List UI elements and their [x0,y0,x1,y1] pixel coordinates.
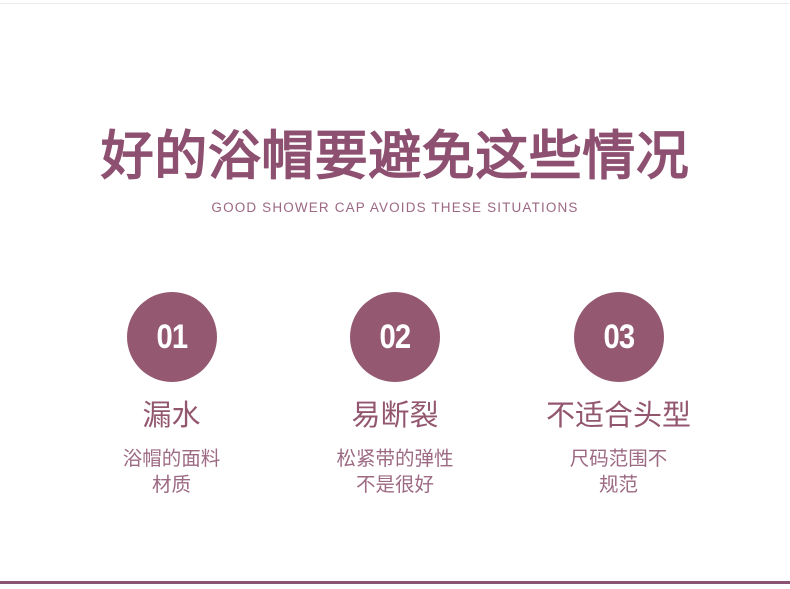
feature-description-02: 松紧带的弹性 不是很好 [336,435,453,498]
feature-description-line: 松紧带的弹性 [336,446,453,472]
feature-description-line: 材质 [123,472,221,498]
badge-number-label: 01 [156,320,187,354]
feature-description-03: 尺码范围不 规范 [570,435,668,498]
feature-columns: 01 漏水 浴帽的面料 材质 02 易断裂 松紧带的弹性 不是很好 03 不适合… [60,292,730,498]
promo-banner: 好的浴帽要避免这些情况 GOOD SHOWER CAP AVOIDS THESE… [0,0,790,589]
top-divider [0,3,790,4]
heading-block: 好的浴帽要避免这些情况 GOOD SHOWER CAP AVOIDS THESE… [0,126,790,217]
number-badge-01: 01 [127,292,217,382]
page-subtitle: GOOD SHOWER CAP AVOIDS THESE SITUATIONS [0,188,790,217]
badge-number-label: 03 [603,320,634,354]
feature-heading-03: 不适合头型 [546,382,691,435]
feature-item-03: 03 不适合头型 尺码范围不 规范 [507,292,730,498]
bottom-divider [0,581,790,584]
feature-description-line: 不是很好 [336,472,453,498]
feature-description-line: 规范 [570,472,668,498]
page-title: 好的浴帽要避免这些情况 [0,126,790,188]
number-badge-02: 02 [350,292,440,382]
feature-heading-01: 漏水 [142,382,200,435]
number-badge-03: 03 [574,292,664,382]
feature-heading-02: 易断裂 [351,382,438,435]
badge-number-label: 02 [380,320,411,354]
feature-description-line: 浴帽的面料 [123,446,221,472]
feature-item-01: 01 漏水 浴帽的面料 材质 [60,292,283,498]
feature-description-01: 浴帽的面料 材质 [123,435,221,498]
feature-item-02: 02 易断裂 松紧带的弹性 不是很好 [284,292,507,498]
feature-description-line: 尺码范围不 [570,446,668,472]
